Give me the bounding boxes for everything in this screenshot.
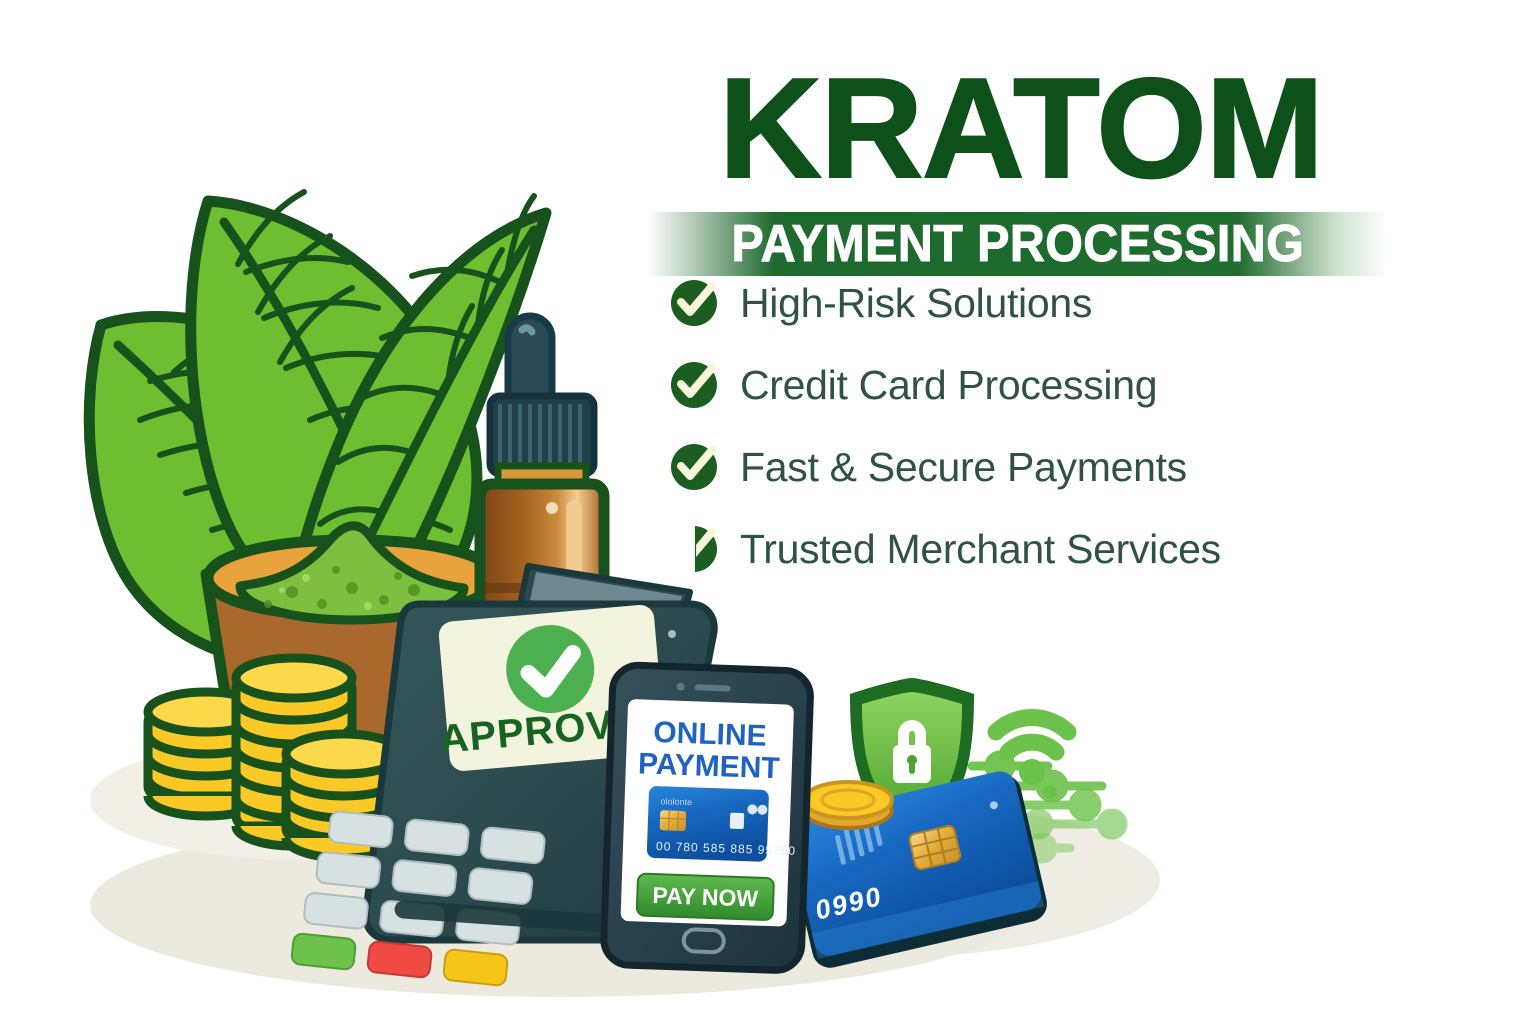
approved-label: APPROVED	[438, 698, 673, 762]
list-item: Trusted Merchant Services	[670, 522, 1388, 576]
page-title: KRATOM	[648, 58, 1388, 200]
kratom-leaves	[89, 192, 546, 662]
pay-now-label: PAY NOW	[652, 882, 759, 912]
phone-heading-1: ONLINE	[653, 716, 767, 753]
feature-label: High-Risk Solutions	[740, 280, 1092, 327]
mini-card-number: 00 780 585 885 95780	[656, 839, 797, 858]
key-yellow	[443, 949, 508, 986]
lock-icon	[893, 720, 931, 783]
list-item: Fast & Secure Payments	[670, 440, 1388, 494]
gold-coin-stacks	[148, 658, 402, 858]
circuit-traces	[930, 755, 1123, 859]
pos-terminal: APPROVED	[291, 566, 714, 986]
mini-card-label: ololonte	[660, 796, 692, 807]
leaf-center	[191, 192, 477, 625]
coin-stack-left	[148, 692, 264, 816]
feature-label: Trusted Merchant Services	[740, 526, 1221, 573]
terminal-keypad	[291, 811, 546, 986]
check-circle-icon	[670, 525, 718, 573]
key-red	[367, 941, 432, 978]
key-green	[291, 933, 356, 970]
card-chip	[908, 825, 961, 870]
ground-shadow	[90, 740, 1160, 997]
text-column: KRATOM PAYMENT PROCESSING High-Risk Solu…	[648, 58, 1388, 604]
coin-stack-right	[286, 734, 402, 858]
feature-list: High-Risk Solutions Credit Card Processi…	[648, 276, 1388, 576]
leaf-right	[294, 196, 546, 652]
powder-bowl	[206, 526, 500, 772]
pay-now-button: PAY NOW	[637, 873, 774, 920]
subtitle-band: PAYMENT PROCESSING	[648, 212, 1388, 276]
list-item: High-Risk Solutions	[670, 276, 1388, 330]
smartphone-payment: ONLINE PAYMENT ololonte 00 780 585 885 9…	[603, 664, 811, 971]
terminal-screen: APPROVED	[430, 603, 675, 773]
check-icon	[527, 653, 576, 691]
page-subtitle: PAYMENT PROCESSING	[732, 214, 1305, 274]
list-item: Credit Card Processing	[670, 358, 1388, 412]
coin-stack-center	[236, 658, 352, 846]
phone-heading-2: PAYMENT	[637, 747, 780, 785]
check-circle-icon	[670, 279, 718, 327]
phone-mini-card: ololonte 00 780 585 885 95780	[647, 786, 799, 863]
credit-card: 880 9390 0990	[658, 767, 1051, 1000]
contactless-wifi-icon	[996, 718, 1068, 799]
check-circle-icon	[670, 361, 718, 409]
banner-canvas: 880 9390 0990 APPROVED	[0, 0, 1536, 1024]
coin-behind-card	[804, 782, 892, 828]
leaf-left	[89, 317, 420, 662]
dropper-bottle	[480, 316, 604, 676]
security-shield	[850, 678, 974, 842]
card-hologram	[832, 814, 885, 865]
feature-label: Credit Card Processing	[740, 362, 1157, 409]
check-circle-icon	[670, 443, 718, 491]
approved-check-circle	[503, 621, 598, 716]
feature-label: Fast & Secure Payments	[740, 444, 1187, 491]
card-number: 880 9390 0990	[680, 880, 883, 957]
